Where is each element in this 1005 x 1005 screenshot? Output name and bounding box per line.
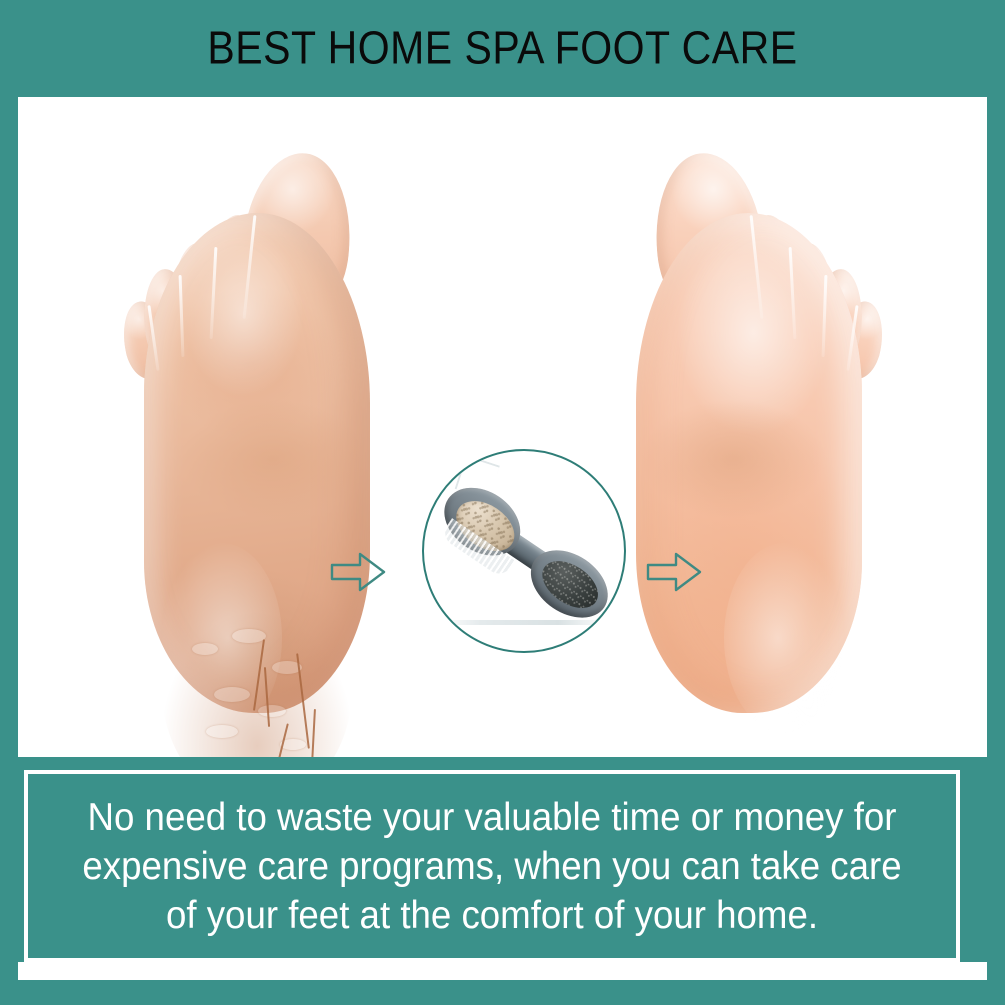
- arrow-right-icon: [330, 549, 386, 595]
- emery-pad: [534, 551, 607, 617]
- forefoot-shading: [180, 399, 366, 519]
- arch-highlight: [724, 543, 844, 733]
- arrow-right-icon: [646, 549, 702, 595]
- product-image-circle: [422, 449, 626, 653]
- forefoot-shading: [640, 399, 826, 519]
- foot-sole-before: [144, 213, 370, 713]
- caption-text: No need to waste your valuable time or m…: [73, 793, 911, 940]
- surface-reflection: [438, 620, 610, 625]
- after-foot-image: [618, 119, 878, 719]
- comparison-photo-panel: BEFORE AFTER: [18, 97, 987, 757]
- panel-bottom-strip: [18, 962, 987, 980]
- cracked-heel-texture: [162, 613, 352, 757]
- foot-care-poster: BEST HOME SPA FOOT CARE: [0, 0, 1005, 1005]
- page-title: BEST HOME SPA FOOT CARE: [207, 22, 797, 75]
- before-foot-image: [128, 119, 388, 719]
- foot-file-tool: [423, 467, 625, 635]
- heel-crack: [296, 653, 310, 749]
- caption-banner: No need to waste your valuable time or m…: [24, 770, 960, 962]
- foot-sole-after: [636, 213, 862, 713]
- poster-header: BEST HOME SPA FOOT CARE: [0, 0, 1005, 97]
- heel-crack: [264, 667, 270, 727]
- heel-crack: [253, 639, 265, 711]
- heel-crack: [310, 709, 316, 757]
